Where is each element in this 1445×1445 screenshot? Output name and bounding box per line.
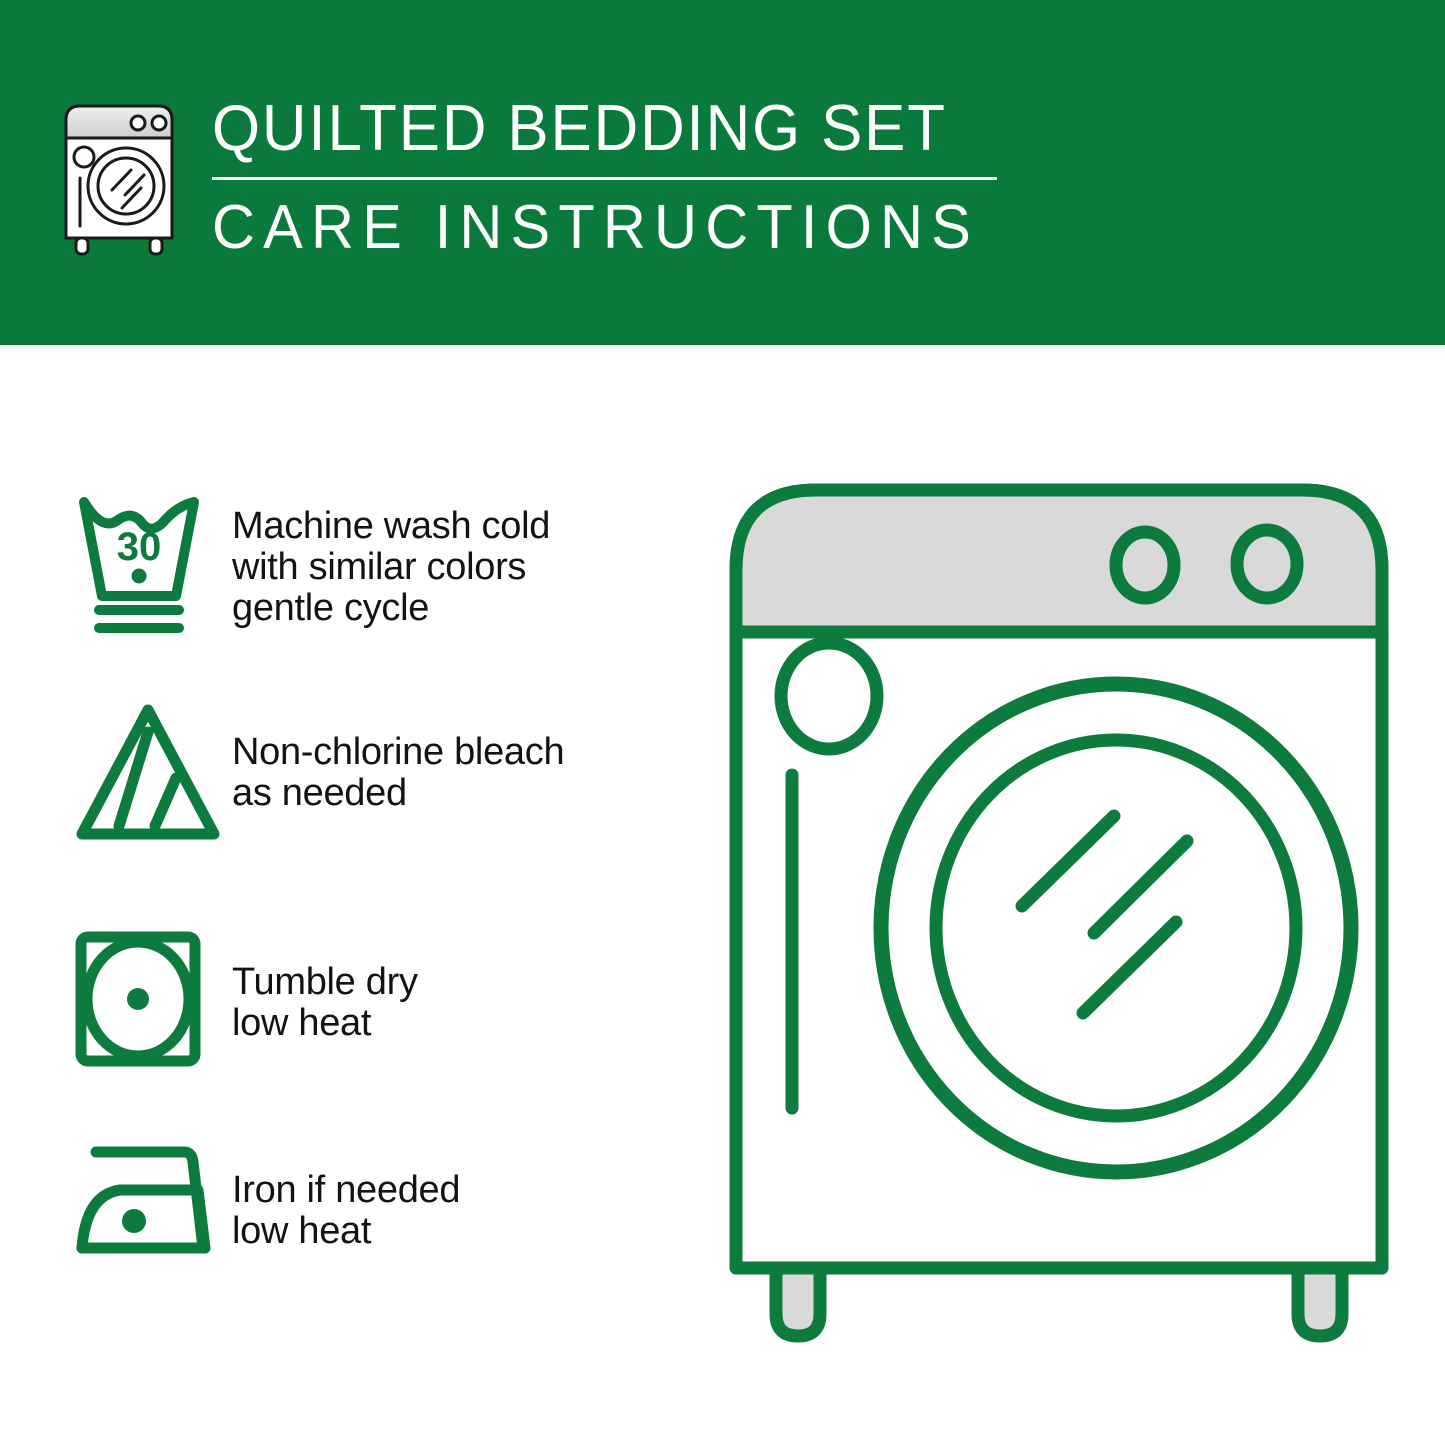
care-label-tumble-dry: Tumble dry low heat: [232, 928, 418, 1044]
care-row-machine-wash: 30 Machine wash cold with similar colors…: [72, 488, 712, 700]
page-subtitle: CARE INSTRUCTIONS: [212, 193, 979, 263]
care-instructions-page: QUILTED BEDDING SET CARE INSTRUCTIONS 30: [0, 0, 1445, 1445]
iron-low-heat-symbol: [72, 1138, 227, 1268]
page-title: QUILTED BEDDING SET: [212, 92, 971, 164]
care-label-machine-wash: Machine wash cold with similar colors ge…: [232, 488, 550, 629]
leg-right: [1298, 1268, 1342, 1336]
wash-temperature-label: 30: [117, 525, 162, 569]
symbol-slot: [72, 928, 232, 1070]
non-chlorine-bleach-symbol: [72, 700, 224, 848]
symbol-slot: [72, 700, 232, 848]
drum-inner-ring: [936, 740, 1296, 1116]
care-row-iron: Iron if needed low heat: [72, 1138, 712, 1308]
header-content: QUILTED BEDDING SET CARE INSTRUCTIONS: [58, 92, 1011, 263]
front-load-washing-machine-illustration: [724, 478, 1394, 1358]
knob-left[interactable]: [1116, 532, 1174, 598]
care-label-iron: Iron if needed low heat: [232, 1138, 460, 1252]
care-row-bleach: Non-chlorine bleach as needed: [72, 700, 712, 928]
knob-right[interactable]: [1237, 530, 1297, 598]
header-banner: QUILTED BEDDING SET CARE INSTRUCTIONS: [0, 0, 1445, 345]
detergent-port-circle[interactable]: [781, 643, 877, 749]
care-row-tumble-dry: Tumble dry low heat: [72, 928, 712, 1138]
care-label-bleach: Non-chlorine bleach as needed: [232, 700, 564, 814]
title-divider: [212, 177, 997, 180]
care-instruction-list: 30 Machine wash cold with similar colors…: [72, 488, 712, 1308]
washing-machine-icon: [58, 98, 180, 260]
symbol-slot: 30: [72, 488, 232, 640]
header-title-block: QUILTED BEDDING SET CARE INSTRUCTIONS: [212, 92, 1011, 263]
leg-left: [776, 1268, 820, 1336]
machine-wash-30-gentle-symbol: 30: [72, 488, 220, 640]
symbol-slot: [72, 1138, 232, 1268]
tumble-dry-low-symbol: [72, 928, 212, 1070]
